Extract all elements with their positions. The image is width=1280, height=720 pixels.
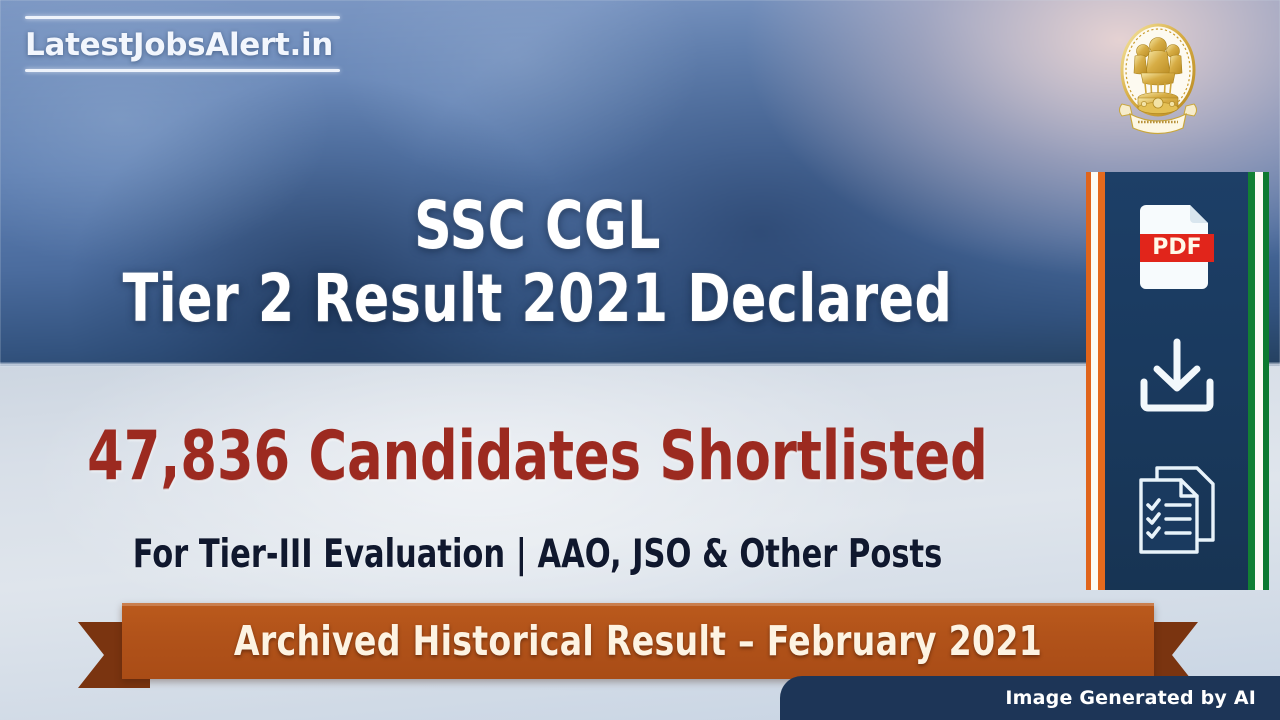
logo-wordmark: LatestJobsAlert.in [25, 25, 340, 65]
ai-badge-label: Image Generated by AI [1005, 687, 1256, 709]
pdf-file-icon[interactable]: PDF [1105, 190, 1248, 302]
headline-line-2: Tier 2 Result 2021 Declared [65, 262, 1011, 336]
poster-subtitle: For Tier-III Evaluation | AAO, JSO & Oth… [70, 528, 1005, 582]
ribbon-label: Archived Historical Result – February 20… [174, 603, 1103, 679]
tricolor-stripe-green-inner [1248, 172, 1255, 590]
poster-headline: SSC CGL Tier 2 Result 2021 Declared [0, 190, 1075, 336]
ssc-national-emblem-icon [1108, 18, 1208, 140]
archived-result-ribbon: Archived Historical Result – February 20… [78, 603, 1198, 687]
tricolor-stripe-white-left [1091, 172, 1098, 590]
logo-rule-bottom [25, 69, 340, 72]
ai-generated-badge: Image Generated by AI [780, 676, 1280, 720]
logo-rule-top [25, 16, 340, 19]
tricolor-stripe-green-outer [1263, 172, 1269, 590]
shortlisted-count-line: 47,836 Candidates Shortlisted [75, 418, 1000, 496]
checklist-icon[interactable] [1105, 454, 1248, 566]
download-icon[interactable] [1105, 322, 1248, 432]
tricolor-stripe-saffron-inner [1098, 172, 1105, 590]
headline-line-1: SSC CGL [65, 190, 1011, 262]
tricolor-stripe-white-right [1255, 172, 1263, 590]
pdf-icon-label: PDF [1152, 235, 1201, 260]
poster-canvas: LatestJobsAlert.in [0, 0, 1280, 720]
site-logo[interactable]: LatestJobsAlert.in [25, 16, 340, 72]
download-side-panel: PDF [1086, 172, 1280, 590]
